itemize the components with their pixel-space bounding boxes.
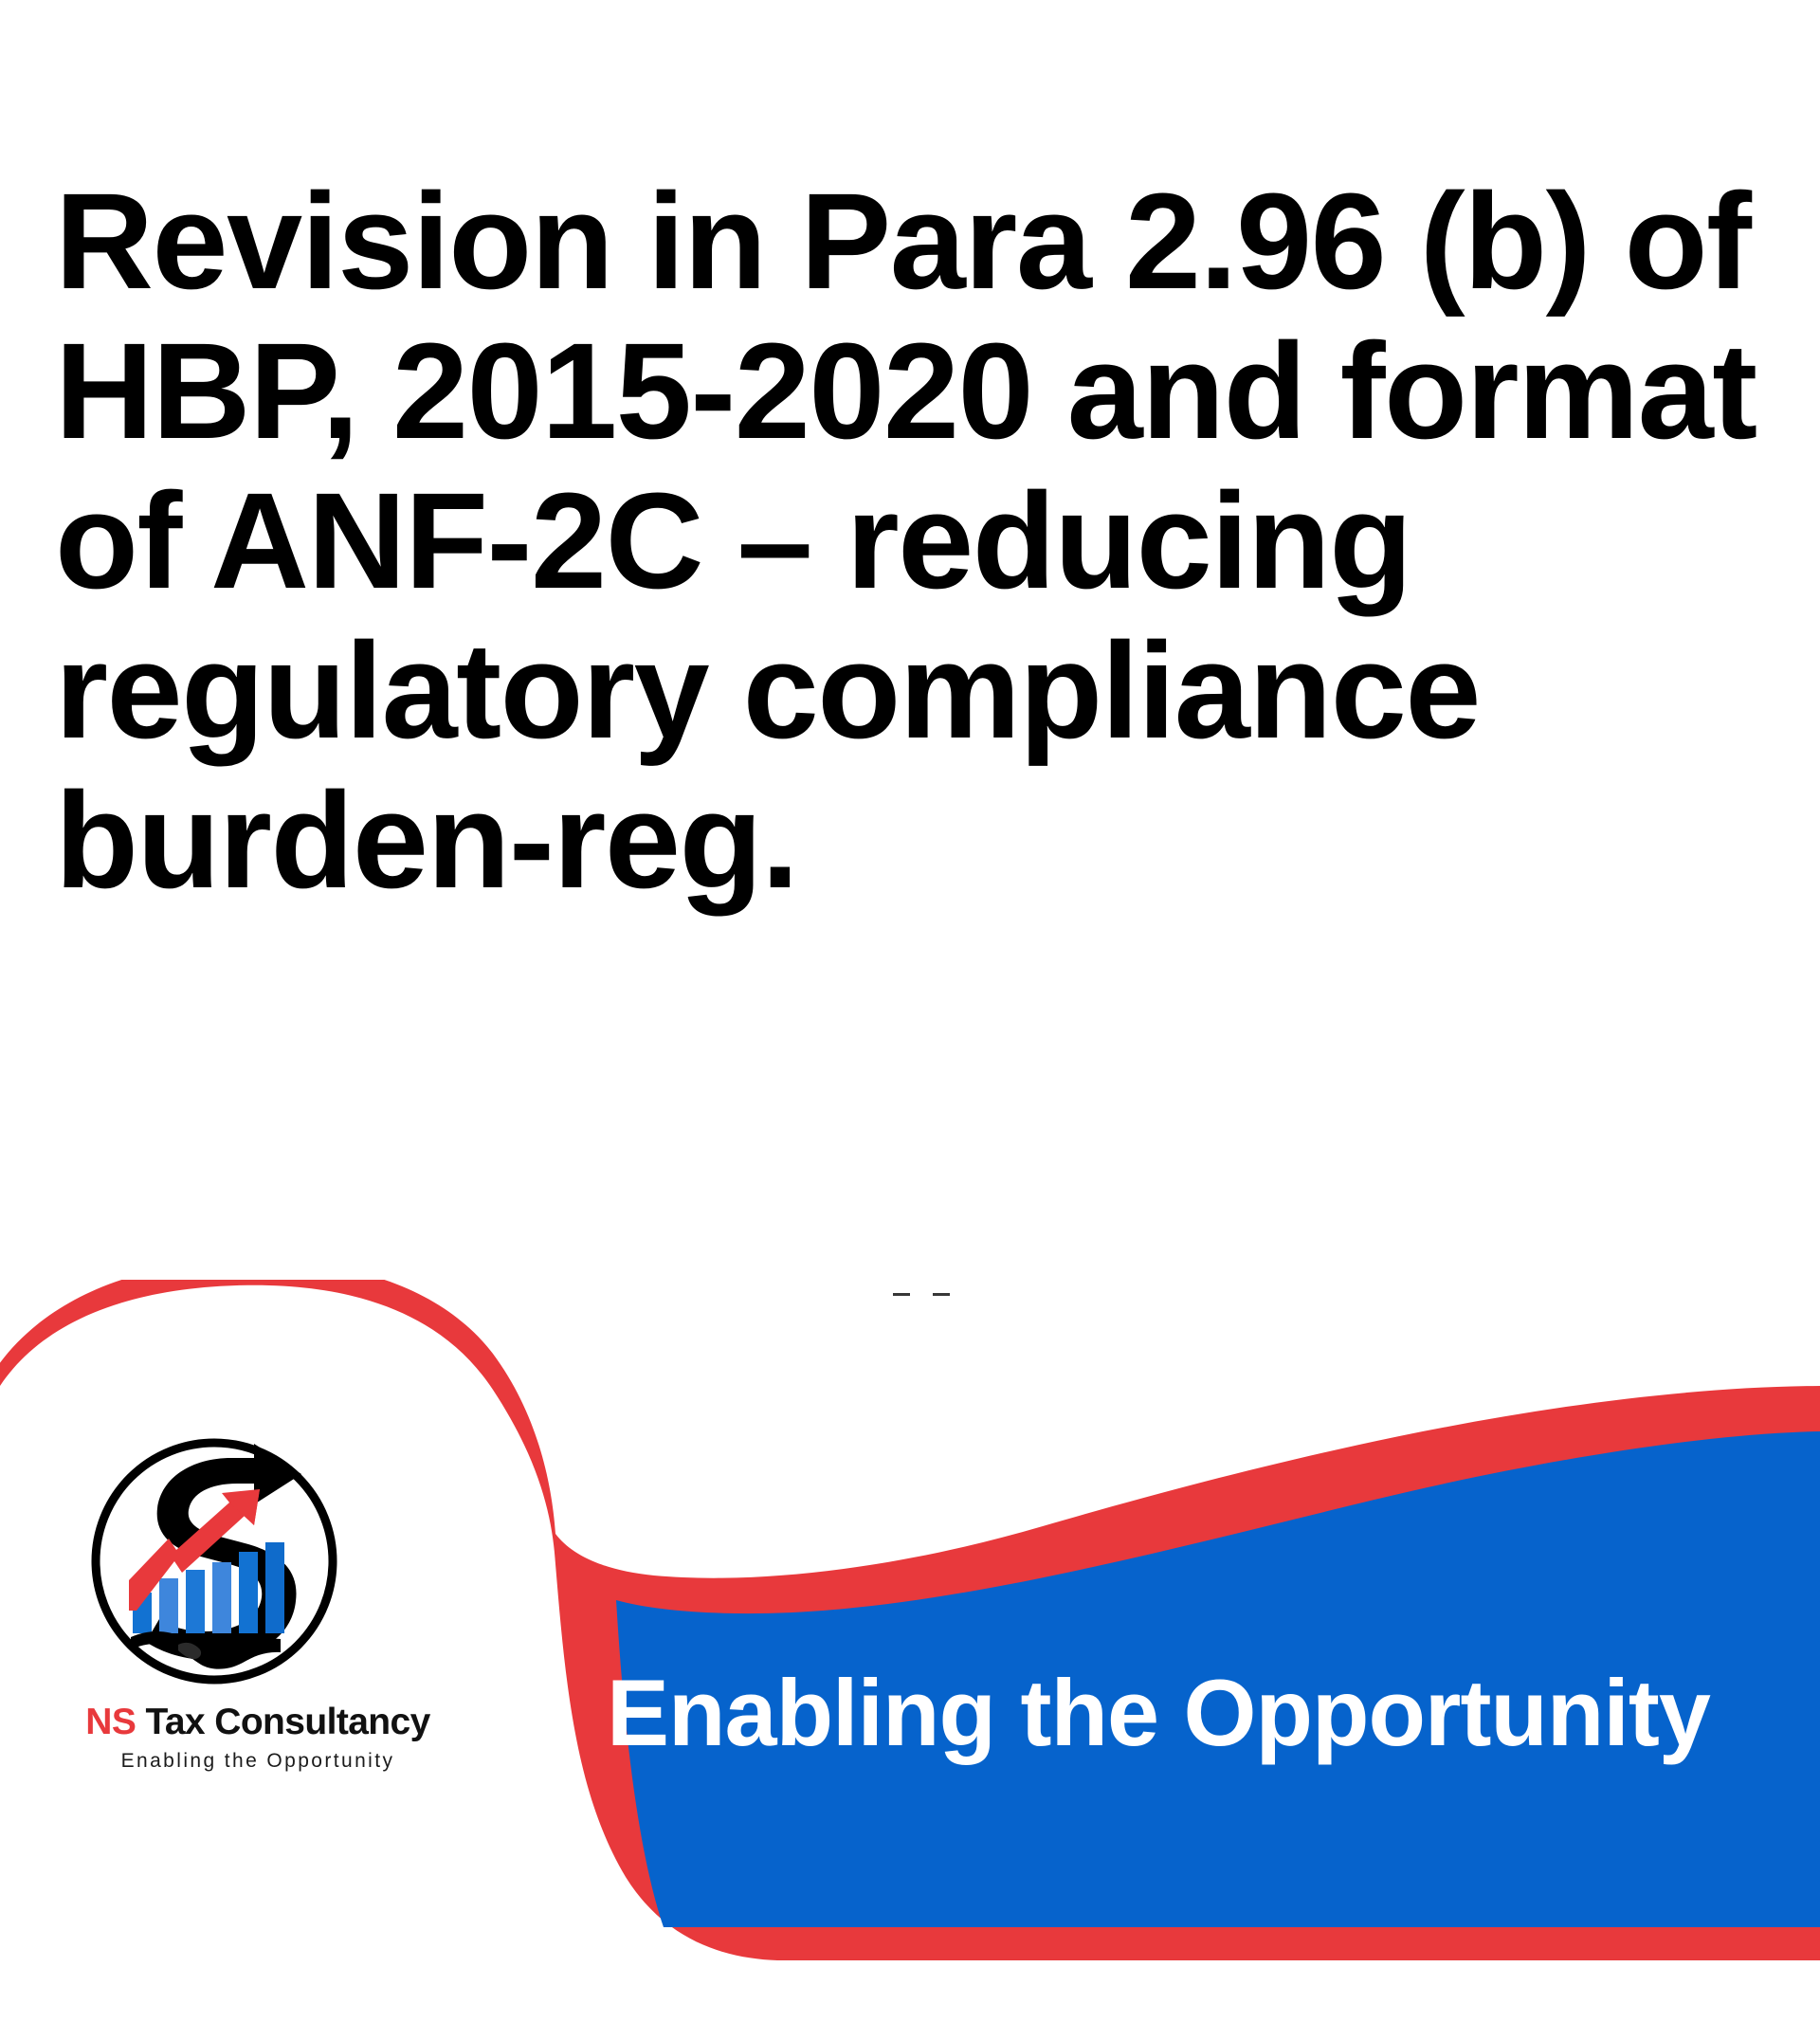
- artifact-dash-right: [933, 1293, 950, 1296]
- logo-mark: [87, 1434, 341, 1688]
- logo-wordmark: NS Tax Consultancy: [68, 1702, 447, 1743]
- logo-wordmark-rest: Tax Consultancy: [136, 1702, 429, 1742]
- artifact-dash-left: [893, 1293, 910, 1296]
- logo-tagline: Enabling the Opportunity: [68, 1749, 447, 1774]
- page-title: Revision in Para 2.96 (b) of HBP, 2015-2…: [55, 167, 1820, 916]
- logo-wordmark-prefix: NS: [85, 1702, 136, 1742]
- brand-logo[interactable]: NS Tax Consultancy Enabling the Opportun…: [68, 1434, 447, 1870]
